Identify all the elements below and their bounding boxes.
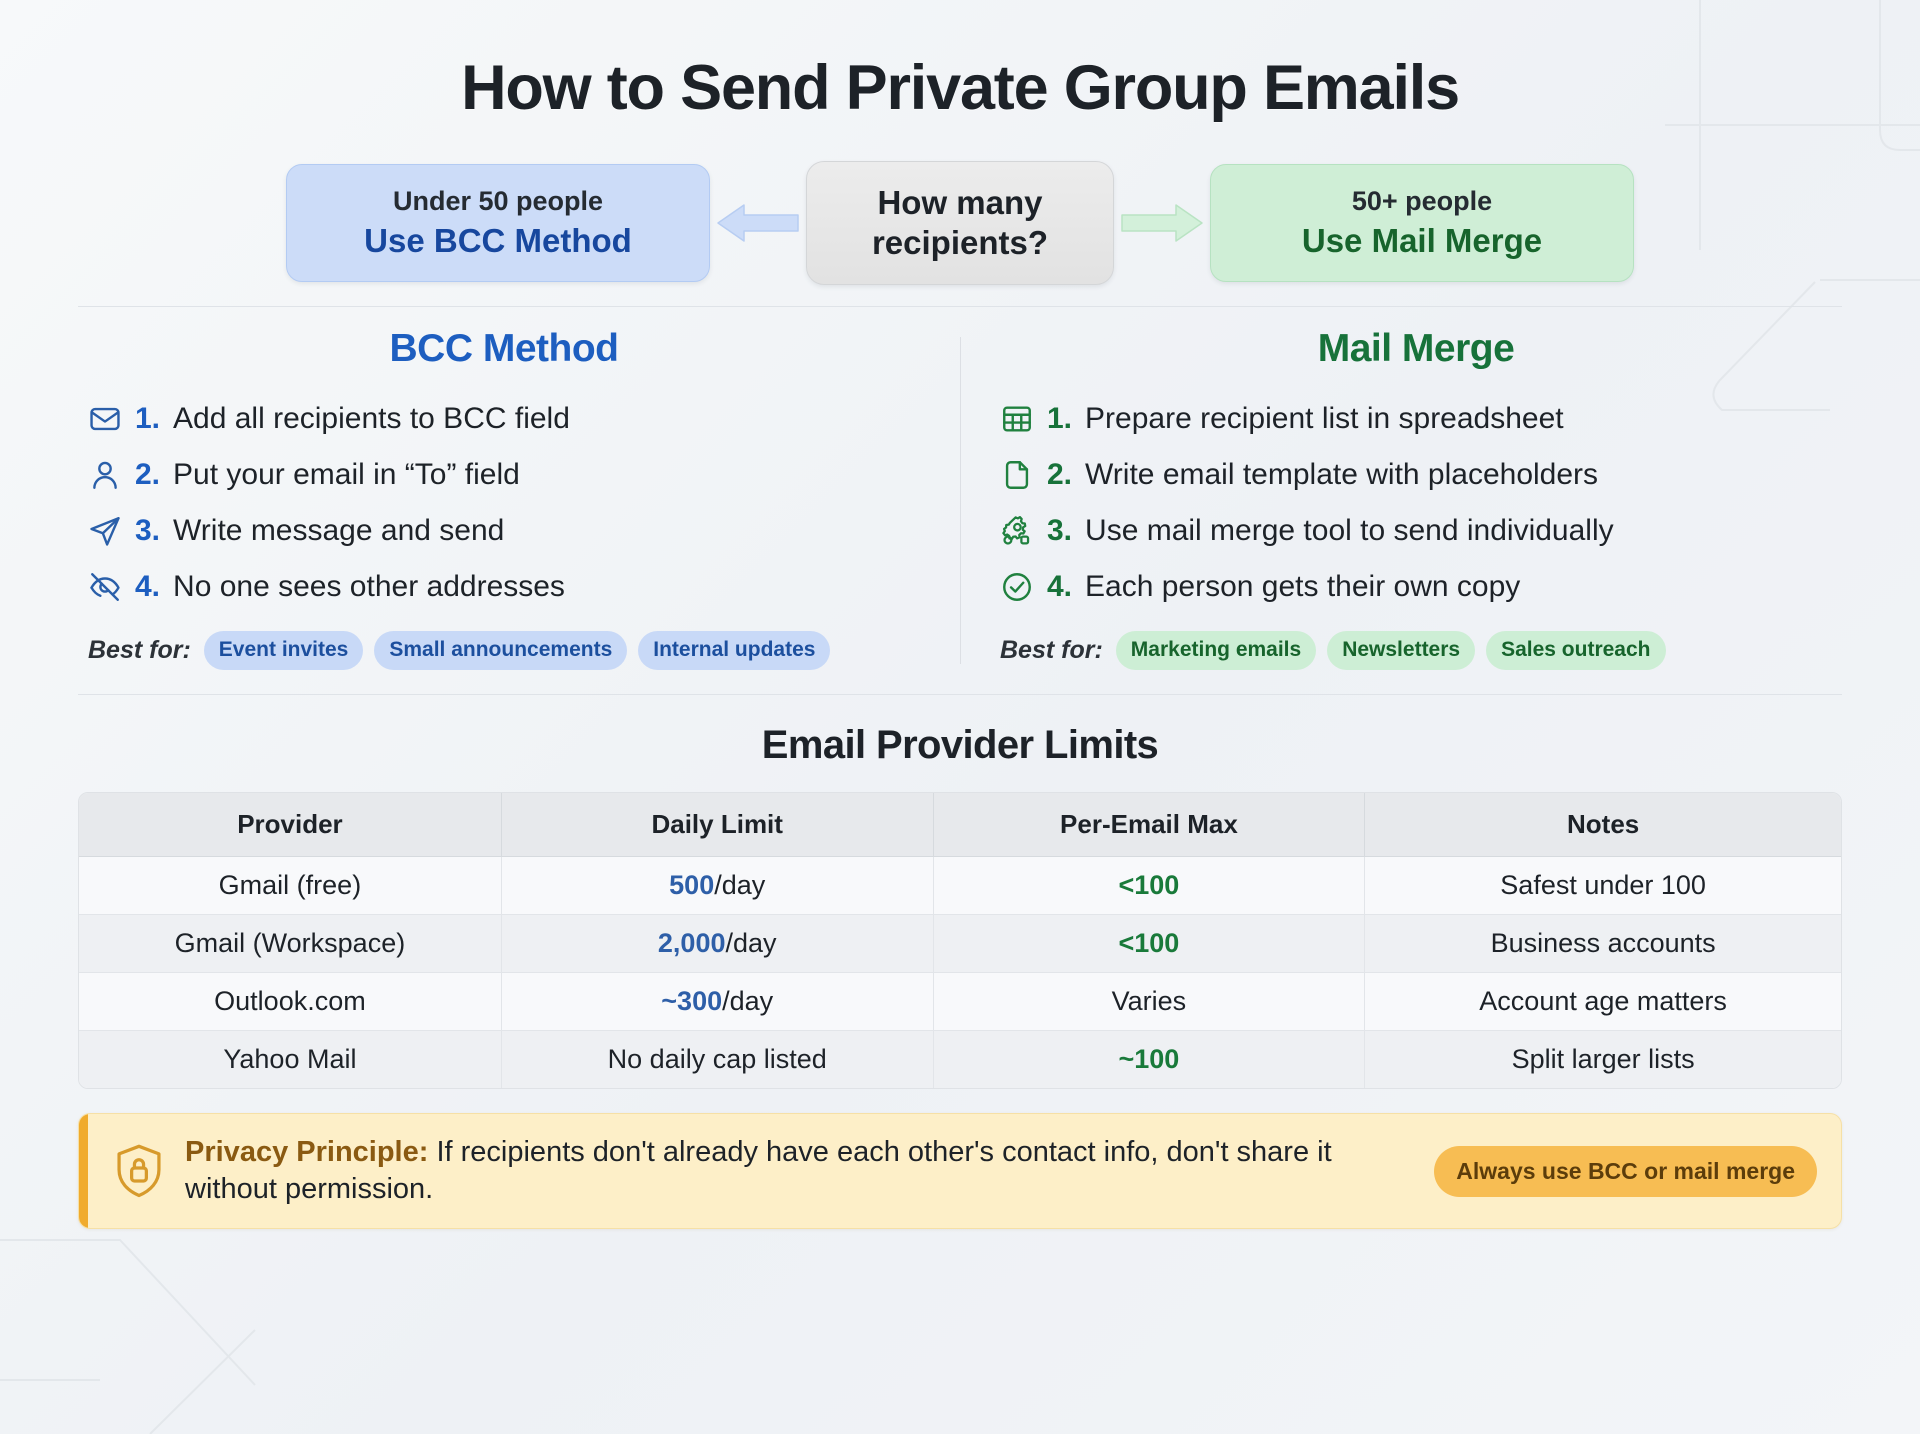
mail-icon xyxy=(88,402,122,436)
table-row: Gmail (free) 500/day <100 Safest under 1… xyxy=(79,857,1841,915)
daily-limit-suffix: /day xyxy=(725,928,776,958)
daily-limit-value: 500 xyxy=(669,870,714,900)
flow-box-mail-merge[interactable]: 50+ people Use Mail Merge xyxy=(1210,164,1634,282)
daily-limit-suffix: /day xyxy=(722,986,773,1016)
per-email-value: <100 xyxy=(1118,870,1179,900)
cell-provider: Outlook.com xyxy=(79,973,502,1031)
cell-daily-limit: No daily cap listed xyxy=(502,1031,934,1088)
list-item: 1. Add all recipients to BCC field xyxy=(88,391,920,447)
table-row: Yahoo Mail No daily cap listed ~100 Spli… xyxy=(79,1031,1841,1088)
privacy-principle-banner: Privacy Principle: If recipients don't a… xyxy=(78,1113,1842,1229)
list-item: 1. Prepare recipient list in spreadsheet xyxy=(1000,391,1832,447)
tag-pill[interactable]: Event invites xyxy=(204,631,364,670)
list-item: 4. No one sees other addresses xyxy=(88,559,920,615)
bcc-best-for-row: Best for: Event invites Small announceme… xyxy=(88,631,920,670)
banner-lead: Privacy Principle: xyxy=(185,1136,428,1168)
step-text: Add all recipients to BCC field xyxy=(173,402,570,436)
list-item: 3. Use mail merge tool to send individua… xyxy=(1000,503,1832,559)
step-number: 4. xyxy=(135,570,160,604)
arrow-left-icon xyxy=(710,193,806,253)
flow-question-line1: How many xyxy=(877,183,1042,223)
column-header-daily-limit: Daily Limit xyxy=(502,793,934,857)
step-text: Write message and send xyxy=(173,514,504,548)
cell-notes: Split larger lists xyxy=(1365,1031,1841,1088)
step-text: No one sees other addresses xyxy=(173,570,565,604)
cell-provider: Yahoo Mail xyxy=(79,1031,502,1088)
step-number: 3. xyxy=(1047,514,1072,548)
per-email-value: Varies xyxy=(1112,986,1187,1016)
table-row: Outlook.com ~300/day Varies Account age … xyxy=(79,973,1841,1031)
cell-notes: Business accounts xyxy=(1365,915,1841,973)
gears-icon xyxy=(1000,514,1034,548)
send-icon xyxy=(88,514,122,548)
per-email-value: <100 xyxy=(1118,928,1179,958)
cell-daily-limit: 2,000/day xyxy=(502,915,934,973)
column-header-provider: Provider xyxy=(79,793,502,857)
methods-section: BCC Method 1. Add all recipients to BCC … xyxy=(78,327,1842,670)
column-header-per-email-max: Per-Email Max xyxy=(934,793,1366,857)
step-number: 4. xyxy=(1047,570,1072,604)
mail-merge-best-for-row: Best for: Marketing emails Newsletters S… xyxy=(1000,631,1832,670)
step-text: Each person gets their own copy xyxy=(1085,570,1520,604)
step-text: Prepare recipient list in spreadsheet xyxy=(1085,402,1564,436)
cell-per-email-max: <100 xyxy=(934,915,1366,973)
shield-lock-icon xyxy=(113,1142,165,1200)
methods-vertical-divider xyxy=(960,337,961,664)
tag-pill[interactable]: Internal updates xyxy=(638,631,830,670)
step-number: 1. xyxy=(1047,402,1072,436)
infographic-page: How to Send Private Group Emails Under 5… xyxy=(0,0,1920,1434)
cell-daily-limit: 500/day xyxy=(502,857,934,915)
step-text: Put your email in “To” field xyxy=(173,458,520,492)
mail-merge-steps-list: 1. Prepare recipient list in spreadsheet… xyxy=(1000,391,1832,615)
flow-bcc-line1: Under 50 people xyxy=(393,186,603,217)
file-icon xyxy=(1000,458,1034,492)
bcc-steps-list: 1. Add all recipients to BCC field 2. Pu… xyxy=(88,391,920,615)
tag-pill[interactable]: Marketing emails xyxy=(1116,631,1316,670)
step-text: Use mail merge tool to send individually xyxy=(1085,514,1614,548)
eye-off-icon xyxy=(88,570,122,604)
column-bcc-method: BCC Method 1. Add all recipients to BCC … xyxy=(78,327,960,670)
mail-merge-title: Mail Merge xyxy=(1000,327,1832,371)
step-number: 1. xyxy=(135,402,160,436)
cell-provider: Gmail (free) xyxy=(79,857,502,915)
table-header-row: Provider Daily Limit Per-Email Max Notes xyxy=(79,793,1841,857)
step-number: 2. xyxy=(135,458,160,492)
list-item: 2. Put your email in “To” field xyxy=(88,447,920,503)
flow-question-line2: recipients? xyxy=(872,223,1048,263)
tag-pill[interactable]: Small announcements xyxy=(374,631,627,670)
arrow-right-icon xyxy=(1114,193,1210,253)
user-icon xyxy=(88,458,122,492)
table-row: Gmail (Workspace) 2,000/day <100 Busines… xyxy=(79,915,1841,973)
tag-pill[interactable]: Newsletters xyxy=(1327,631,1475,670)
step-text: Write email template with placeholders xyxy=(1085,458,1598,492)
divider-top xyxy=(78,306,1842,307)
flow-mm-line2: Use Mail Merge xyxy=(1302,222,1542,260)
cell-daily-limit: ~300/day xyxy=(502,973,934,1031)
cell-notes: Safest under 100 xyxy=(1365,857,1841,915)
step-number: 3. xyxy=(135,514,160,548)
page-title: How to Send Private Group Emails xyxy=(78,0,1842,124)
tag-pill[interactable]: Sales outreach xyxy=(1486,631,1665,670)
cell-per-email-max: ~100 xyxy=(934,1031,1366,1088)
daily-limit-value: ~300 xyxy=(661,986,722,1016)
email-provider-limits-table: Provider Daily Limit Per-Email Max Notes… xyxy=(78,792,1842,1089)
daily-limit-plain: No daily cap listed xyxy=(608,1044,827,1074)
divider-bottom xyxy=(78,694,1842,695)
spreadsheet-icon xyxy=(1000,402,1034,436)
cell-provider: Gmail (Workspace) xyxy=(79,915,502,973)
cell-per-email-max: Varies xyxy=(934,973,1366,1031)
flow-box-question[interactable]: How many recipients? xyxy=(806,161,1114,285)
banner-badge[interactable]: Always use BCC or mail merge xyxy=(1434,1146,1817,1197)
daily-limit-value: 2,000 xyxy=(658,928,726,958)
flow-bcc-line2: Use BCC Method xyxy=(364,222,632,260)
table-title: Email Provider Limits xyxy=(78,723,1842,768)
list-item: 3. Write message and send xyxy=(88,503,920,559)
per-email-value: ~100 xyxy=(1118,1044,1179,1074)
cell-per-email-max: <100 xyxy=(934,857,1366,915)
list-item: 4. Each person gets their own copy xyxy=(1000,559,1832,615)
check-circle-icon xyxy=(1000,570,1034,604)
flow-mm-line1: 50+ people xyxy=(1352,186,1492,217)
best-for-label: Best for: xyxy=(1000,636,1103,665)
list-item: 2. Write email template with placeholder… xyxy=(1000,447,1832,503)
bcc-method-title: BCC Method xyxy=(88,327,920,371)
flow-box-bcc[interactable]: Under 50 people Use BCC Method xyxy=(286,164,710,282)
cell-notes: Account age matters xyxy=(1365,973,1841,1031)
daily-limit-suffix: /day xyxy=(714,870,765,900)
best-for-label: Best for: xyxy=(88,636,191,665)
step-number: 2. xyxy=(1047,458,1072,492)
column-header-notes: Notes xyxy=(1365,793,1841,857)
banner-text: Privacy Principle: If recipients don't a… xyxy=(185,1134,1434,1208)
decision-flow: Under 50 people Use BCC Method How many … xyxy=(78,164,1842,282)
column-mail-merge: Mail Merge 1. Prepare recipient list in … xyxy=(960,327,1842,670)
